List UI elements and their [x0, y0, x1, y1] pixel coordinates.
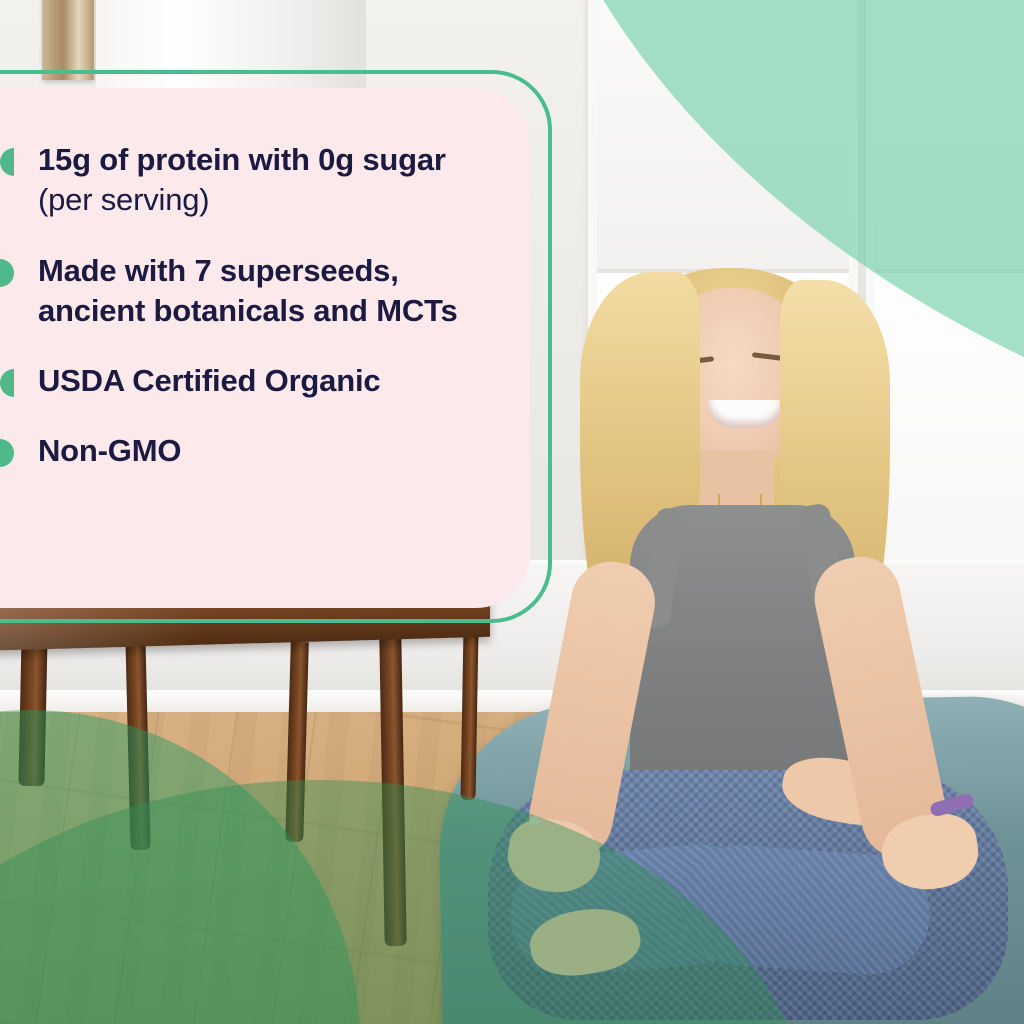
benefits-list: 15g of protein with 0g sugar (per servin…	[0, 140, 490, 472]
benefit-bold-text: Non-GMO	[38, 433, 181, 468]
half-circle-right-icon	[0, 259, 14, 287]
half-circle-left-icon	[0, 148, 14, 176]
window-shade	[875, 0, 1024, 273]
benefit-bold-text: Made with 7 superseeds, ancient botanica…	[38, 253, 458, 328]
list-item: 15g of protein with 0g sugar (per servin…	[0, 140, 490, 221]
benefit-text: USDA Certified Organic	[38, 361, 380, 401]
marketing-graphic: 15g of protein with 0g sugar (per servin…	[0, 0, 1024, 1024]
half-circle-left-icon	[0, 369, 14, 397]
table-leg	[18, 636, 47, 787]
half-circle-right-icon	[0, 439, 14, 467]
list-item: Made with 7 superseeds, ancient botanica…	[0, 251, 490, 332]
picture-frame	[42, 0, 94, 80]
benefit-bold-text: 15g of protein with 0g sugar	[38, 142, 446, 177]
window-shade	[597, 0, 849, 273]
ring	[530, 816, 540, 826]
benefit-text: Non-GMO	[38, 431, 181, 471]
list-item: USDA Certified Organic	[0, 361, 490, 401]
list-item: Non-GMO	[0, 431, 490, 471]
benefit-bold-text: USDA Certified Organic	[38, 363, 380, 398]
table-leg	[461, 630, 479, 800]
benefits-card: 15g of protein with 0g sugar (per servin…	[0, 88, 530, 608]
benefit-text: Made with 7 superseeds, ancient botanica…	[38, 251, 468, 332]
benefit-text: 15g of protein with 0g sugar (per servin…	[38, 140, 468, 221]
benefit-light-text: (per serving)	[38, 182, 209, 217]
